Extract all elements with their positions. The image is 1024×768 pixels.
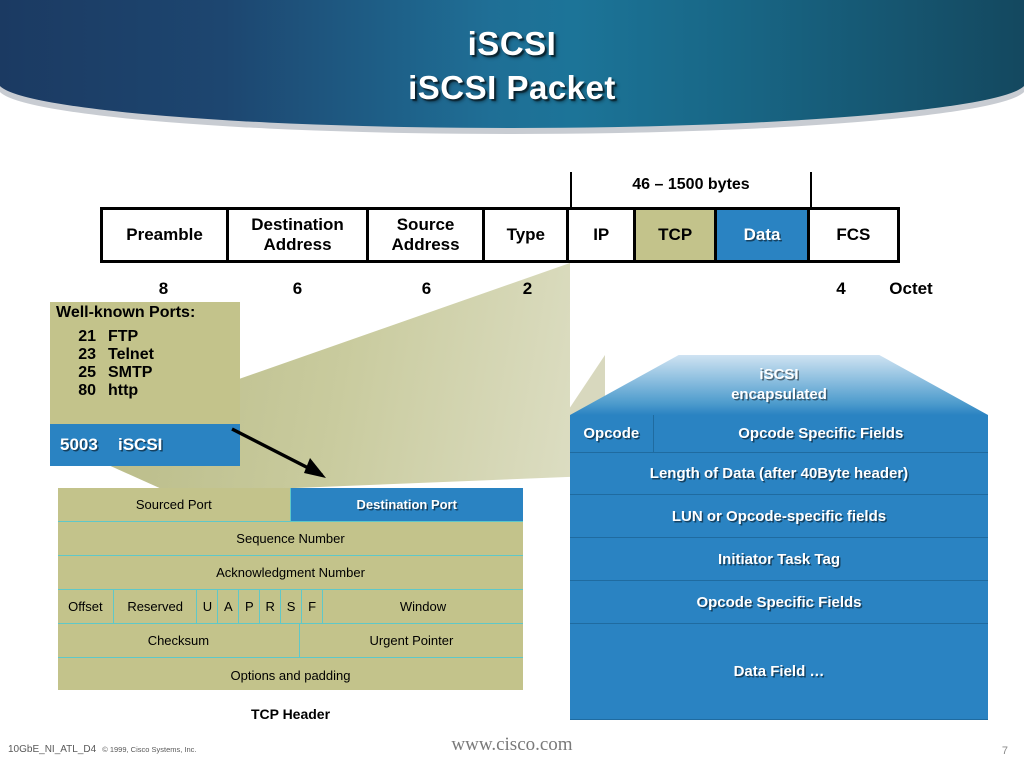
iscsi-pdu-row: LUN or Opcode-specific fields bbox=[570, 495, 988, 538]
tcp-field-label: Sequence Number bbox=[236, 531, 344, 546]
well-known-port-number: 23 bbox=[56, 346, 96, 364]
frame-cell-data: Data bbox=[717, 210, 809, 260]
tcp-field-label: R bbox=[266, 599, 275, 614]
tcp-field-r: R bbox=[260, 590, 281, 623]
iscsi-funnel-line1: iSCSI bbox=[759, 365, 798, 385]
port-mapping-arrow-icon bbox=[230, 425, 350, 485]
tcp-field-urgent-pointer: Urgent Pointer bbox=[300, 624, 523, 657]
iscsi-pdu-row: Data Field … bbox=[570, 624, 988, 720]
frame-cell-tcp: TCP bbox=[636, 210, 717, 260]
frame-cell-destination-address: Destination Address bbox=[229, 210, 369, 260]
frame-cell-label: Destination Address bbox=[229, 215, 366, 255]
iscsi-field-label: Length of Data (after 40Byte header) bbox=[650, 465, 908, 482]
iscsi-field-label: Data Field … bbox=[734, 663, 825, 680]
frame-cell-ip: IP bbox=[569, 210, 636, 260]
frame-size-source: 6 bbox=[368, 277, 485, 301]
slide-title-line1: iSCSI bbox=[0, 22, 1024, 66]
well-known-port-name: http bbox=[108, 382, 138, 400]
tcp-header-row: ChecksumUrgent Pointer bbox=[58, 624, 523, 658]
iscsi-field-data-field-: Data Field … bbox=[570, 624, 988, 719]
well-known-port-row: 21FTP bbox=[56, 328, 236, 346]
banner-titles: iSCSI iSCSI Packet bbox=[0, 22, 1024, 110]
frame-size-fcs: 4 bbox=[826, 277, 856, 301]
tcp-field-f: F bbox=[302, 590, 323, 623]
slide-title-line2: iSCSI Packet bbox=[0, 66, 1024, 110]
tcp-field-reserved: Reserved bbox=[114, 590, 198, 623]
iscsi-port-highlight-row[interactable]: 5003 iSCSI bbox=[50, 424, 240, 466]
tcp-field-label: Destination Port bbox=[357, 497, 457, 512]
well-known-port-row: 80http bbox=[56, 382, 236, 400]
iscsi-pdu-row: OpcodeOpcode Specific Fields bbox=[570, 415, 988, 453]
tcp-field-label: Checksum bbox=[148, 633, 209, 648]
well-known-port-number: 21 bbox=[56, 328, 96, 346]
tcp-field-u: U bbox=[197, 590, 218, 623]
frame-cell-label: Data bbox=[744, 225, 781, 245]
tcp-header-row: Sourced PortDestination Port bbox=[58, 488, 523, 522]
tcp-field-label: Reserved bbox=[127, 599, 183, 614]
frame-size-destination: 6 bbox=[227, 277, 368, 301]
iscsi-field-length-of-data-after-40byte-header-: Length of Data (after 40Byte header) bbox=[570, 453, 988, 494]
iscsi-pdu-table: OpcodeOpcode Specific FieldsLength of Da… bbox=[570, 415, 988, 720]
payload-bracket-right-tick bbox=[810, 172, 812, 208]
tcp-header-row: OffsetReservedUAPRSFWindow bbox=[58, 590, 523, 624]
tcp-field-label: F bbox=[308, 599, 316, 614]
frame-cell-fcs: FCS bbox=[810, 210, 897, 260]
well-known-ports-title: Well-known Ports: bbox=[56, 304, 195, 322]
iscsi-pdu-row: Opcode Specific Fields bbox=[570, 581, 988, 624]
tcp-field-checksum: Checksum bbox=[58, 624, 300, 657]
well-known-ports-list: 21FTP23Telnet25SMTP80http bbox=[56, 328, 236, 400]
iscsi-port-name: iSCSI bbox=[118, 435, 162, 455]
tcp-header-table: Sourced PortDestination PortSequence Num… bbox=[58, 488, 523, 690]
tcp-field-label: Sourced Port bbox=[136, 497, 212, 512]
frame-cell-label: Preamble bbox=[126, 225, 203, 245]
tcp-field-label: U bbox=[203, 599, 212, 614]
well-known-port-name: Telnet bbox=[108, 346, 154, 364]
iscsi-pdu-row: Length of Data (after 40Byte header) bbox=[570, 453, 988, 495]
frame-cell-source-address: Source Address bbox=[369, 210, 485, 260]
frame-cell-label: TCP bbox=[658, 225, 692, 245]
frame-cell-label: Type bbox=[507, 225, 545, 245]
well-known-port-name: SMTP bbox=[108, 364, 152, 382]
iscsi-field-label: Opcode bbox=[583, 425, 639, 442]
tcp-field-options-and-padding: Options and padding bbox=[58, 658, 523, 692]
iscsi-field-label: LUN or Opcode-specific fields bbox=[672, 508, 886, 525]
payload-bracket-left-tick bbox=[570, 172, 572, 208]
payload-size-label: 46 – 1500 bytes bbox=[570, 172, 812, 198]
tcp-field-label: Urgent Pointer bbox=[369, 633, 453, 648]
tcp-field-sourced-port: Sourced Port bbox=[58, 488, 291, 521]
iscsi-field-initiator-task-tag: Initiator Task Tag bbox=[570, 538, 988, 580]
frame-size-preamble: 8 bbox=[100, 277, 227, 301]
tcp-header-row: Options and padding bbox=[58, 658, 523, 692]
frame-cell-preamble: Preamble bbox=[103, 210, 229, 260]
slide-header-banner: iSCSI iSCSI Packet bbox=[0, 0, 1024, 140]
iscsi-field-opcode: Opcode bbox=[570, 415, 654, 452]
tcp-field-label: Options and padding bbox=[231, 668, 351, 683]
tcp-header-row: Sequence Number bbox=[58, 522, 523, 556]
frame-size-type: 2 bbox=[485, 277, 570, 301]
tcp-header-caption: TCP Header bbox=[58, 706, 523, 722]
tcp-field-label: P bbox=[245, 599, 254, 614]
tcp-field-label: A bbox=[224, 599, 233, 614]
iscsi-field-label: Opcode Specific Fields bbox=[696, 594, 861, 611]
iscsi-port-number: 5003 bbox=[52, 435, 118, 455]
well-known-port-number: 80 bbox=[56, 382, 96, 400]
tcp-field-sequence-number: Sequence Number bbox=[58, 522, 523, 555]
iscsi-field-opcode-specific-fields: Opcode Specific Fields bbox=[654, 415, 988, 452]
frame-cell-label: FCS bbox=[836, 225, 870, 245]
frame-cell-label: IP bbox=[593, 225, 609, 245]
footer-page-number: 7 bbox=[1002, 745, 1008, 757]
iscsi-pdu-row: Initiator Task Tag bbox=[570, 538, 988, 581]
frame-octet-unit-label: Octet bbox=[866, 277, 956, 301]
tcp-header-row: Acknowledgment Number bbox=[58, 556, 523, 590]
tcp-field-label: Acknowledgment Number bbox=[216, 565, 365, 580]
iscsi-funnel-line2: encapsulated bbox=[731, 385, 827, 405]
frame-cell-label: Source Address bbox=[369, 215, 482, 255]
tcp-field-destination-port[interactable]: Destination Port bbox=[291, 488, 524, 521]
well-known-port-name: FTP bbox=[108, 328, 138, 346]
tcp-field-offset: Offset bbox=[58, 590, 114, 623]
iscsi-field-label: Opcode Specific Fields bbox=[738, 425, 903, 442]
footer-url: www.cisco.com bbox=[0, 734, 1024, 756]
well-known-port-row: 23Telnet bbox=[56, 346, 236, 364]
tcp-field-window: Window bbox=[323, 590, 523, 623]
tcp-field-label: Offset bbox=[68, 599, 102, 614]
iscsi-encapsulation-funnel: iSCSI encapsulated bbox=[570, 355, 988, 415]
tcp-field-p: P bbox=[239, 590, 260, 623]
iscsi-field-opcode-specific-fields: Opcode Specific Fields bbox=[570, 581, 988, 623]
well-known-port-number: 25 bbox=[56, 364, 96, 382]
ethernet-frame-diagram: PreambleDestination AddressSource Addres… bbox=[100, 207, 900, 263]
iscsi-field-lun-or-opcode-specific-fields: LUN or Opcode-specific fields bbox=[570, 495, 988, 537]
iscsi-field-label: Initiator Task Tag bbox=[718, 551, 840, 568]
well-known-port-row: 25SMTP bbox=[56, 364, 236, 382]
frame-cell-type: Type bbox=[485, 210, 569, 260]
tcp-field-acknowledgment-number: Acknowledgment Number bbox=[58, 556, 523, 589]
tcp-field-label: Window bbox=[400, 599, 446, 614]
tcp-field-s: S bbox=[281, 590, 302, 623]
tcp-field-a: A bbox=[218, 590, 239, 623]
tcp-field-label: S bbox=[287, 599, 296, 614]
